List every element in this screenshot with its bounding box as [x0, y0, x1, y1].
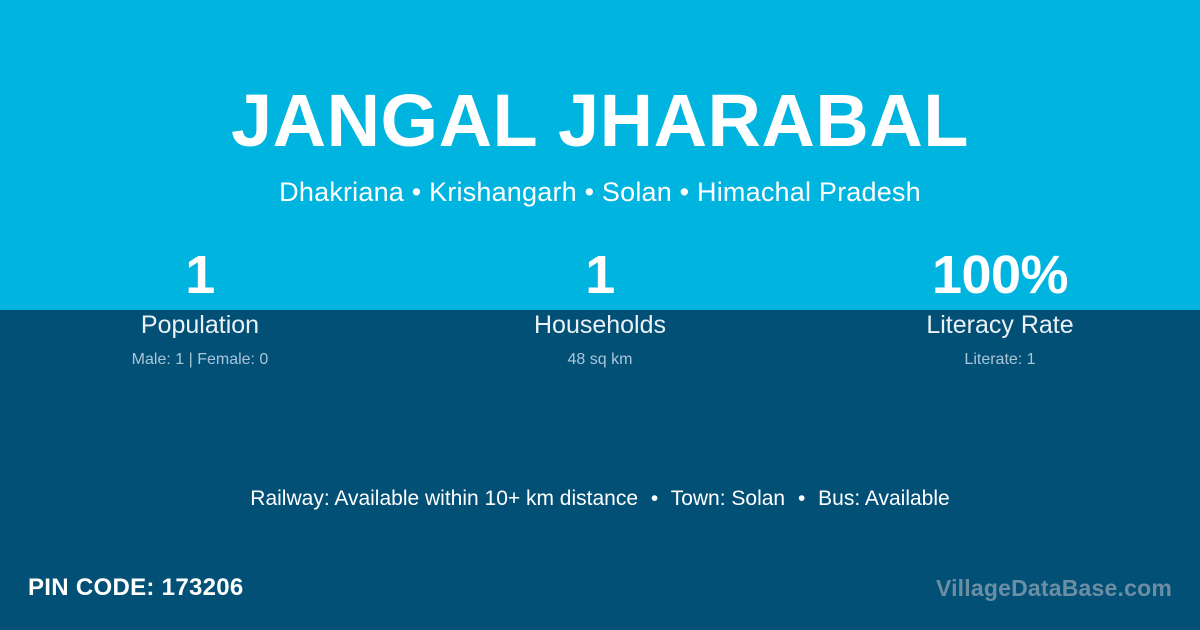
bullet-separator-icon: •: [644, 487, 665, 510]
stat-label: Population: [0, 310, 400, 340]
footer: PIN CODE: 173206 VillageDataBase.com: [0, 552, 1200, 630]
stat-literacy-rate: 100% Literacy Rate Literate: 1: [800, 240, 1200, 370]
bullet-separator-icon: •: [791, 487, 812, 510]
transport-info: Railway: Available within 10+ km distanc…: [0, 484, 1200, 514]
village-info-card: JANGAL JHARABAL Dhakriana • Krishangarh …: [0, 0, 1200, 630]
stats-row: 1 Population Male: 1 | Female: 0 1 House…: [0, 240, 1200, 370]
breadcrumb: Dhakriana • Krishangarh • Solan • Himach…: [0, 158, 1200, 208]
stat-sublabel: 48 sq km: [400, 340, 800, 370]
stat-value: 1: [400, 240, 800, 310]
stat-sublabel: Male: 1 | Female: 0: [0, 340, 400, 370]
stat-sublabel: Literate: 1: [800, 340, 1200, 370]
stat-label: Households: [400, 310, 800, 340]
stat-value: 100%: [800, 240, 1200, 310]
stat-households: 1 Households 48 sq km: [400, 240, 800, 370]
bus-info: Bus: Available: [818, 487, 950, 510]
railway-info: Railway: Available within 10+ km distanc…: [250, 487, 638, 510]
stat-population: 1 Population Male: 1 | Female: 0: [0, 240, 400, 370]
page-title: JANGAL JHARABAL: [0, 0, 1200, 158]
pin-code: PIN CODE: 173206: [28, 574, 244, 602]
stat-label: Literacy Rate: [800, 310, 1200, 340]
site-brand: VillageDataBase.com: [936, 575, 1172, 602]
nearest-town-info: Town: Solan: [671, 487, 785, 510]
stat-value: 1: [0, 240, 400, 310]
hero-section: JANGAL JHARABAL Dhakriana • Krishangarh …: [0, 0, 1200, 208]
